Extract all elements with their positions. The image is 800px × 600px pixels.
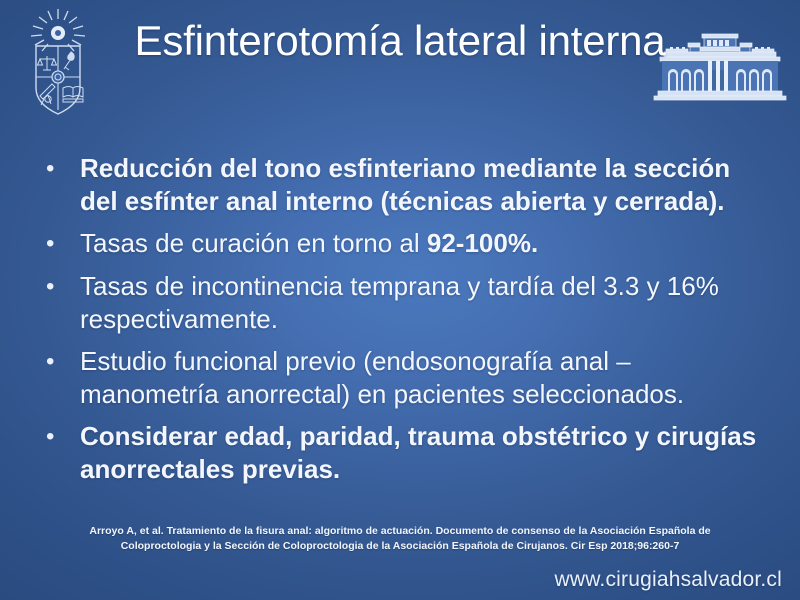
bullet-list: • Reducción del tono esfinteriano median… <box>40 152 765 495</box>
list-item: • Tasas de curación en torno al 92-100%. <box>40 227 765 261</box>
list-item: • Tasas de incontinencia temprana y tard… <box>40 270 765 336</box>
list-item: • Reducción del tono esfinteriano median… <box>40 152 765 218</box>
slide-title: Esfinterotomía lateral interna <box>120 14 680 68</box>
universidad-de-chile-coat-of-arms-icon <box>18 6 98 118</box>
list-item: • Estudio funcional previo (endosonograf… <box>40 345 765 411</box>
bullet-marker: • <box>40 152 80 186</box>
bullet-marker: • <box>40 227 80 261</box>
footer-website-url: www.cirugiahsalvador.cl <box>554 568 782 592</box>
bullet-marker: • <box>40 270 80 304</box>
list-item-text-emphasis: 92-100%. <box>427 228 538 258</box>
citation-line-1: Arroyo A, et al. Tratamiento de la fisur… <box>85 524 715 539</box>
list-item-text: Reducción del tono esfinteriano mediante… <box>80 152 765 218</box>
list-item-text-lead: Tasas de curación en torno al <box>80 228 427 258</box>
list-item: • Considerar edad, paridad, trauma obsté… <box>40 420 765 486</box>
presentation-slide: Esfinterotomía lateral interna • Reducci… <box>0 0 800 600</box>
list-item-text: Estudio funcional previo (endosonografía… <box>80 345 765 411</box>
list-item-text: Tasas de incontinencia temprana y tardía… <box>80 270 765 336</box>
bullet-marker: • <box>40 420 80 454</box>
list-item-text: Tasas de curación en torno al 92-100%. <box>80 227 765 260</box>
bullet-marker: • <box>40 345 80 379</box>
citation-reference: Arroyo A, et al. Tratamiento de la fisur… <box>85 524 715 554</box>
citation-line-2: Coloproctologia y la Sección de Coloproc… <box>85 539 715 554</box>
list-item-text: Considerar edad, paridad, trauma obstétr… <box>80 420 765 486</box>
